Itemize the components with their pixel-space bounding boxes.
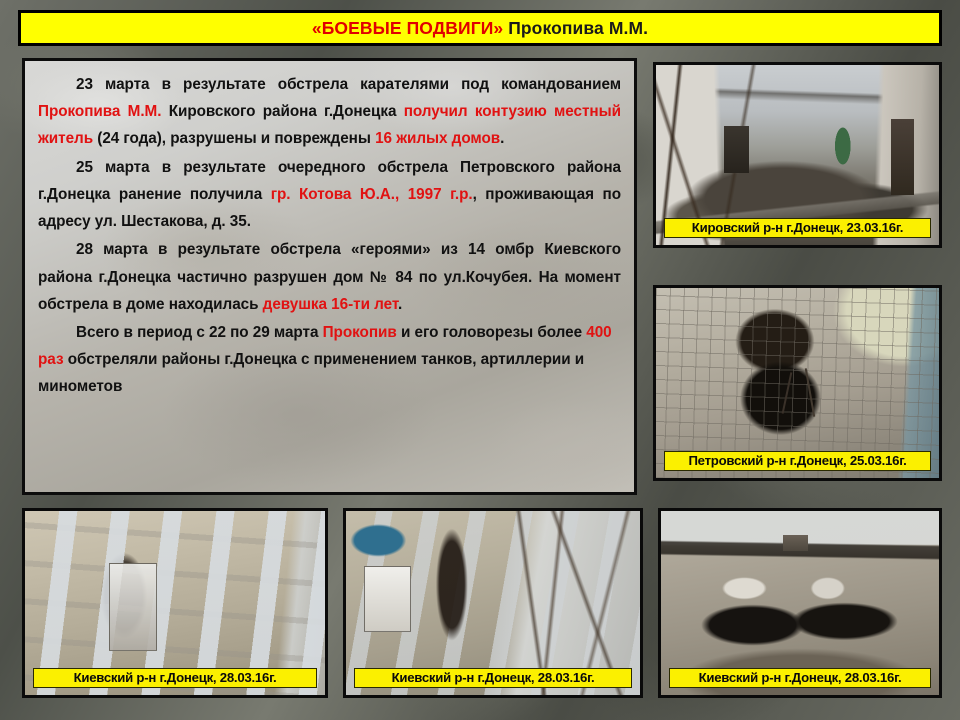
photo-kievsky-2-balcony (364, 566, 411, 632)
p3-highlight-girl: девушка 16-ти лет (263, 296, 398, 313)
photo-kievsky-1-balcony (109, 563, 157, 651)
photo-kirovsky-doorway-right (891, 119, 914, 195)
paragraph-1: 23 марта в результате обстрела карателям… (38, 71, 621, 153)
paragraph-4: Всего в период с 22 по 29 марта Прокопив… (38, 319, 621, 401)
photo-caption-petrovsky: Петровский р-н г.Донецк, 25.03.16г. (664, 451, 931, 471)
photo-petrovsky-rebar-left (782, 372, 793, 413)
photo-caption-kievsky-1: Киевский р-н г.Донецк, 28.03.16г. (33, 668, 317, 688)
photo-kirovsky-doorway (724, 126, 749, 173)
report-text-panel: 23 марта в результате обстрела карателям… (22, 58, 637, 495)
p2-highlight-kotova: гр. Котова Ю.А., 1997 г.р. (271, 186, 473, 203)
p1-highlight-houses: 16 жилых домов (375, 130, 500, 147)
paragraph-3: 28 марта в результате обстрела «героями»… (38, 236, 621, 318)
photo-petrovsky-image (656, 288, 939, 478)
p4-seg5: обстреляли районы г.Донецка с применение… (38, 351, 584, 395)
p1-highlight-prokopiv: Прокопива М.М. (38, 103, 161, 120)
photo-kirovsky-district: Кировский р-н г.Донецк, 23.03.16г. (653, 62, 942, 248)
page-title-red: «БОЕВЫЕ ПОДВИГИ» (312, 18, 503, 38)
photo-caption-kievsky-3: Киевский р-н г.Донецк, 28.03.16г. (669, 668, 931, 688)
p4-seg1: Всего в период с 22 по 29 марта (76, 324, 323, 341)
photo-caption-kirovsky: Кировский р-н г.Донецк, 23.03.16г. (664, 218, 931, 238)
photo-kievsky-district-3: Киевский р-н г.Донецк, 28.03.16г. (658, 508, 942, 698)
photo-petrovsky-rebar-right (805, 368, 816, 417)
p1-seg1: 23 марта в результате обстрела карателям… (76, 76, 621, 93)
photo-caption-kievsky-2: Киевский р-н г.Донецк, 28.03.16г. (354, 668, 632, 688)
photo-kievsky-district-2: Киевский р-н г.Донецк, 28.03.16г. (343, 508, 643, 698)
photo-kievsky-district-1: Киевский р-н г.Донецк, 28.03.16г. (22, 508, 328, 698)
p4-highlight-prokopiv: Прокопив (323, 324, 397, 341)
page-title: «БОЕВЫЕ ПОДВИГИ» Прокопива М.М. (312, 18, 648, 39)
photo-petrovsky-district: Петровский р-н г.Донецк, 25.03.16г. (653, 285, 942, 481)
slide-title-bar: «БОЕВЫЕ ПОДВИГИ» Прокопива М.М. (18, 10, 942, 46)
photo-kievsky-3-chimney (783, 535, 808, 552)
p4-seg3: и его головорезы более (397, 324, 586, 341)
p1-seg3: Кировского района г.Донецка (161, 103, 403, 120)
page-title-dark: Прокопива М.М. (503, 18, 648, 38)
paragraph-2: 25 марта в результате очередного обстрел… (38, 154, 621, 236)
p1-seg5: (24 года), разрушены и повреждены (93, 130, 375, 147)
p1-seg7: . (500, 130, 504, 147)
p3-seg3: . (398, 296, 402, 313)
